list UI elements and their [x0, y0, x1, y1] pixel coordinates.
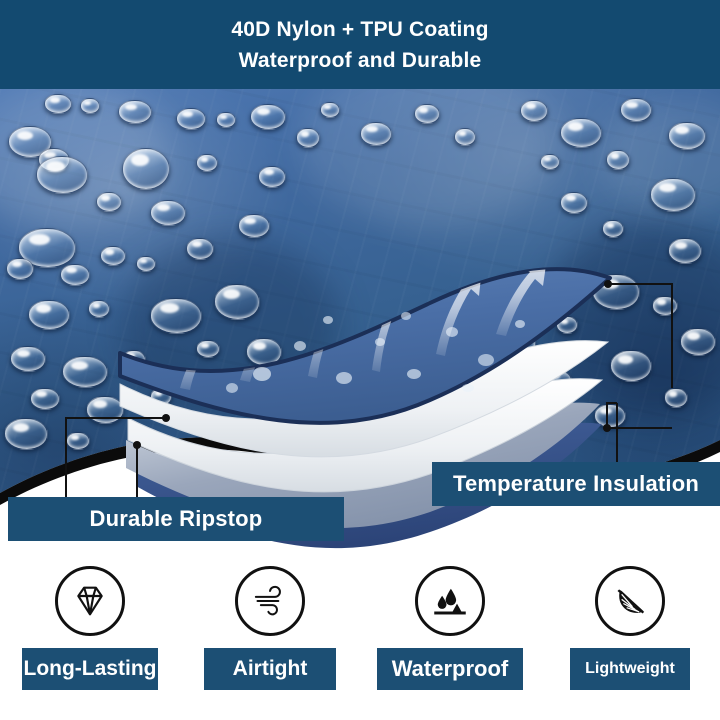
feature-strip: Long-Lasting Airtight: [0, 552, 720, 720]
feature-lightweight-label: Lightweight: [585, 660, 675, 678]
water-droplet: [66, 432, 90, 450]
feature-airtight-badge: Airtight: [204, 648, 336, 690]
droplet-small: [438, 596, 447, 609]
water-droplet: [62, 356, 108, 388]
diamond-icon: [55, 566, 125, 636]
water-droplet: [360, 122, 392, 146]
water-droplet: [560, 118, 602, 148]
water-droplet: [664, 388, 688, 408]
header-title-line2: Waterproof and Durable: [239, 45, 482, 76]
feature-airtight[interactable]: Airtight: [180, 552, 360, 720]
water-droplet: [136, 256, 156, 272]
water-droplet: [86, 396, 124, 424]
water-droplet: [150, 298, 202, 334]
feature-lightweight[interactable]: Lightweight: [540, 552, 720, 720]
water-droplet: [122, 148, 170, 190]
water-droplet: [28, 300, 70, 330]
water-droplet: [6, 258, 34, 280]
water-droplet: [496, 274, 522, 294]
water-droplet: [516, 336, 536, 352]
water-droplet: [454, 128, 476, 146]
feather-icon: [595, 566, 665, 636]
water-droplet: [246, 338, 282, 366]
water-droplet: [216, 112, 236, 128]
water-droplet: [258, 166, 286, 188]
water-droplet: [88, 300, 110, 318]
water-droplet: [680, 328, 716, 356]
droplet-splash: [453, 604, 462, 612]
water-droplet: [186, 238, 214, 260]
water-droplet: [560, 192, 588, 214]
water-droplet: [594, 404, 626, 428]
water-droplet: [320, 102, 340, 118]
water-droplet: [30, 388, 60, 410]
water-droplet: [80, 98, 100, 114]
water-droplet: [100, 246, 126, 266]
water-droplet: [540, 154, 560, 170]
water-droplet: [122, 350, 146, 370]
water-droplet: [592, 274, 640, 310]
header-title-line1: 40D Nylon + TPU Coating: [231, 14, 488, 45]
water-droplet: [44, 94, 72, 114]
feature-waterproof[interactable]: Waterproof: [360, 552, 540, 720]
feature-airtight-label: Airtight: [233, 657, 308, 681]
callout-temperature-insulation[interactable]: Temperature Insulation: [432, 462, 720, 506]
water-droplet: [556, 316, 578, 334]
water-droplet: [544, 370, 572, 392]
feature-waterproof-badge: Waterproof: [377, 648, 523, 690]
callout-durable-ripstop[interactable]: Durable Ripstop: [8, 497, 344, 541]
feature-long-lasting-badge: Long-Lasting: [22, 648, 158, 690]
feature-lightweight-badge: Lightweight: [570, 648, 690, 690]
header-banner: 40D Nylon + TPU Coating Waterproof and D…: [0, 0, 720, 89]
water-droplet: [650, 178, 696, 212]
water-droplet: [196, 154, 218, 172]
water-droplet: [4, 418, 48, 450]
water-droplet: [176, 108, 206, 130]
water-droplet: [150, 200, 186, 226]
droplet-large: [446, 589, 457, 606]
water-droplet: [414, 104, 440, 124]
water-droplet: [520, 100, 548, 122]
water-droplet: [118, 100, 152, 124]
water-droplet: [652, 296, 678, 316]
surface-line: [434, 612, 466, 615]
water-droplet: [620, 98, 652, 122]
feature-waterproof-label: Waterproof: [392, 656, 509, 682]
water-droplet: [668, 122, 706, 150]
infographic-page: 40D Nylon + TPU Coating Waterproof and D…: [0, 0, 720, 720]
water-droplet: [96, 192, 122, 212]
water-droplet: [60, 264, 90, 286]
water-droplet: [610, 350, 652, 382]
feature-long-lasting[interactable]: Long-Lasting: [0, 552, 180, 720]
water-droplet: [250, 104, 286, 130]
water-droplet: [150, 388, 172, 406]
callout-temperature-insulation-label: Temperature Insulation: [453, 471, 699, 497]
water-droplet: [10, 346, 46, 372]
water-droplet: [36, 156, 88, 194]
callout-durable-ripstop-label: Durable Ripstop: [90, 506, 263, 532]
water-droplet: [196, 340, 220, 358]
water-droplet: [668, 238, 702, 264]
water-droplet: [606, 150, 630, 170]
water-droplet: [214, 284, 260, 320]
water-droplet: [238, 214, 270, 238]
water-droplet: [296, 128, 320, 148]
feature-long-lasting-label: Long-Lasting: [24, 657, 157, 681]
water-drop-icon: [415, 566, 485, 636]
water-droplet: [602, 220, 624, 238]
wind-icon: [235, 566, 305, 636]
